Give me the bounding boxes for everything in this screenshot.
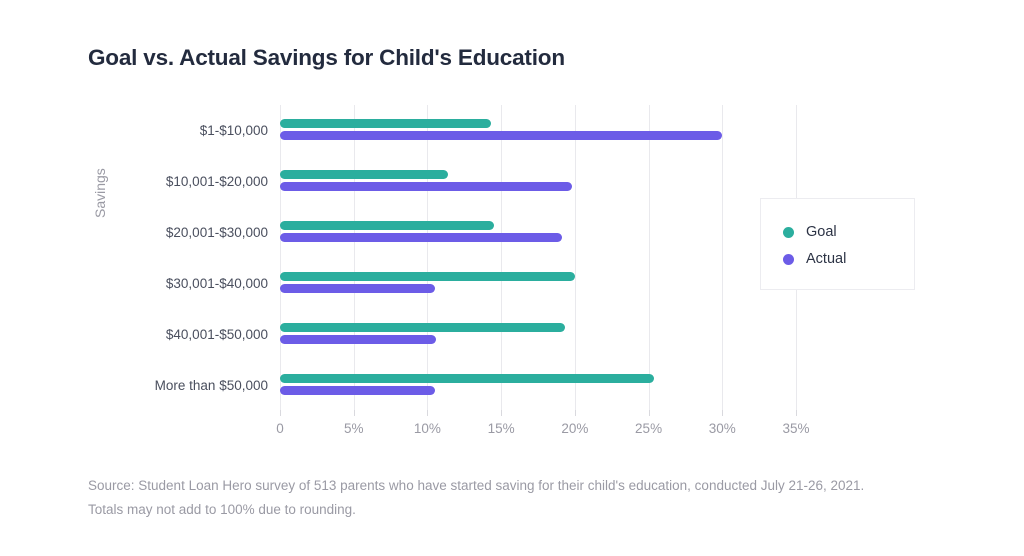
source-line-2: Totals may not add to 100% due to roundi… — [88, 498, 978, 522]
x-tick-label: 5% — [344, 421, 364, 436]
legend-label-goal: Goal — [806, 224, 837, 240]
x-tick-mark — [501, 410, 502, 416]
bar-row — [280, 182, 796, 191]
bar-row — [280, 131, 796, 140]
legend-item-goal[interactable]: Goal — [783, 224, 837, 240]
bar-row — [280, 386, 796, 395]
x-tick-label: 0 — [276, 421, 284, 436]
bar-row — [280, 323, 796, 332]
bar-group: $30,001-$40,000 — [280, 272, 796, 294]
bar-actual[interactable] — [280, 131, 722, 140]
bar-goal[interactable] — [280, 119, 491, 128]
x-gridline — [501, 105, 502, 410]
bar-goal[interactable] — [280, 272, 575, 281]
bar-row — [280, 374, 796, 383]
bar-row — [280, 170, 796, 179]
chart-legend: Goal Actual — [760, 198, 915, 290]
bar-row — [280, 221, 796, 230]
x-gridline — [722, 105, 723, 410]
source-note: Source: Student Loan Hero survey of 513 … — [88, 474, 978, 521]
x-tick-mark — [575, 410, 576, 416]
bar-row — [280, 119, 796, 128]
bar-group: $40,001-$50,000 — [280, 323, 796, 345]
bar-group: $10,001-$20,000 — [280, 170, 796, 192]
x-tick-label: 10% — [414, 421, 441, 436]
legend-item-actual[interactable]: Actual — [783, 251, 846, 267]
legend-label-actual: Actual — [806, 251, 846, 267]
x-tick-label: 35% — [782, 421, 809, 436]
bar-group: More than $50,000 — [280, 374, 796, 396]
y-tick-label: $1-$10,000 — [200, 124, 268, 138]
bar-goal[interactable] — [280, 221, 494, 230]
chart-canvas: Goal vs. Actual Savings for Child's Educ… — [0, 0, 1024, 556]
legend-swatch-goal-icon — [783, 227, 794, 238]
y-axis-title: Savings — [92, 168, 108, 218]
bar-row — [280, 284, 796, 293]
x-gridline — [427, 105, 428, 410]
x-tick-mark — [796, 410, 797, 416]
x-tick-mark — [722, 410, 723, 416]
bar-actual[interactable] — [280, 284, 435, 293]
chart-title: Goal vs. Actual Savings for Child's Educ… — [88, 45, 565, 71]
x-tick-mark — [427, 410, 428, 416]
x-tick-mark — [280, 410, 281, 416]
x-tick-label: 30% — [709, 421, 736, 436]
y-tick-label: $20,001-$30,000 — [166, 226, 268, 240]
x-tick-label: 15% — [488, 421, 515, 436]
bar-group: $1-$10,000 — [280, 119, 796, 141]
bar-goal[interactable] — [280, 170, 448, 179]
y-tick-label: $30,001-$40,000 — [166, 277, 268, 291]
bar-group: $20,001-$30,000 — [280, 221, 796, 243]
x-tick-mark — [649, 410, 650, 416]
bar-actual[interactable] — [280, 386, 435, 395]
y-tick-label: $10,001-$20,000 — [166, 175, 268, 189]
x-tick-mark — [354, 410, 355, 416]
x-gridline — [280, 105, 281, 410]
bar-row — [280, 233, 796, 242]
x-tick-label: 25% — [635, 421, 662, 436]
bar-row — [280, 272, 796, 281]
bar-actual[interactable] — [280, 335, 436, 344]
y-tick-label: $40,001-$50,000 — [166, 328, 268, 342]
bar-row — [280, 335, 796, 344]
x-gridline — [354, 105, 355, 410]
y-tick-label: More than $50,000 — [155, 379, 268, 393]
source-line-1: Source: Student Loan Hero survey of 513 … — [88, 474, 978, 498]
bar-actual[interactable] — [280, 182, 572, 191]
bar-goal[interactable] — [280, 323, 565, 332]
plot-area: 05%10%15%20%25%30%35%$1-$10,000$10,001-$… — [280, 105, 796, 410]
x-gridline — [575, 105, 576, 410]
bar-actual[interactable] — [280, 233, 562, 242]
legend-swatch-actual-icon — [783, 254, 794, 265]
x-gridline — [649, 105, 650, 410]
bar-goal[interactable] — [280, 374, 654, 383]
x-tick-label: 20% — [561, 421, 588, 436]
